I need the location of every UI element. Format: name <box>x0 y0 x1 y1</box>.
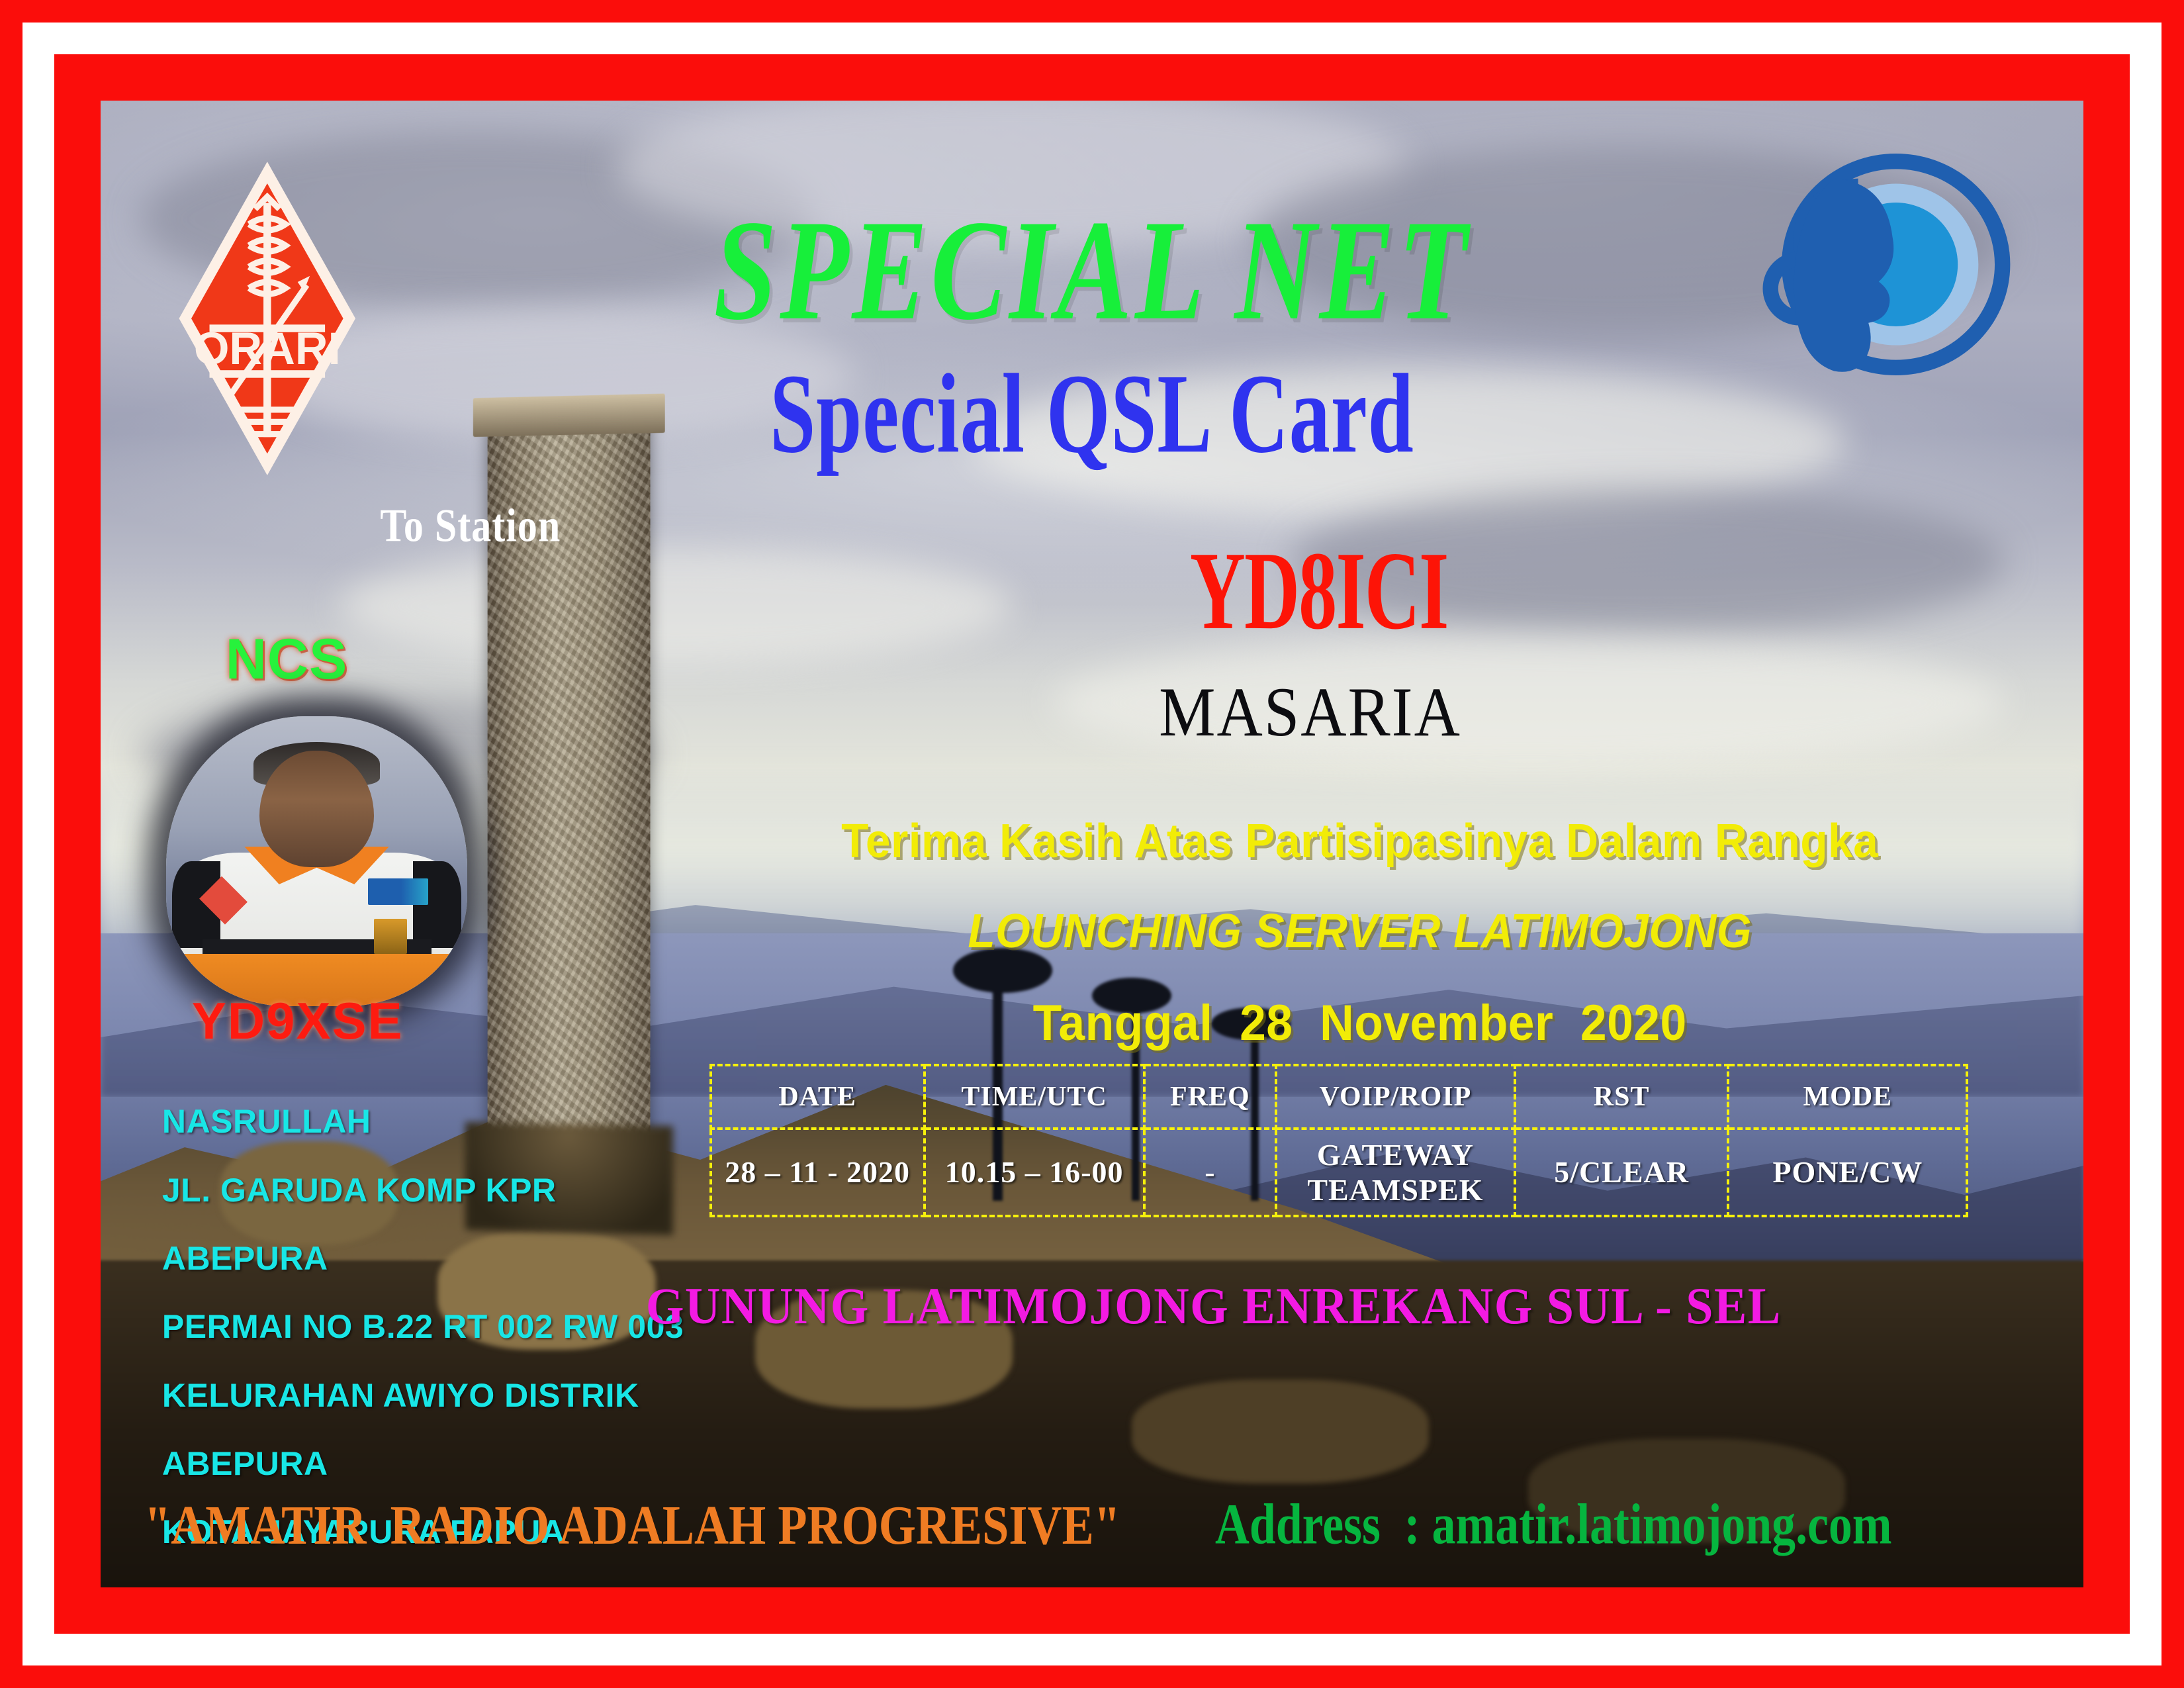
address-line: ABEPURA <box>162 1443 684 1485</box>
table-header-row: DATE TIME/UTC FREQ VOIP/ROIP RST MODE <box>711 1065 1967 1128</box>
address-line: NASRULLAH <box>162 1101 684 1143</box>
avatar-id-card <box>374 919 407 954</box>
cell-freq: - <box>1144 1129 1276 1216</box>
column-header-rst: RST <box>1515 1065 1729 1128</box>
address-line: JL. GARUDA KOMP KPR <box>162 1170 684 1211</box>
station-callsign: YD8ICI <box>447 526 2083 655</box>
table-row: 28 – 11 - 2020 10.15 – 16-00 - GATEWAY T… <box>711 1129 1967 1216</box>
station-operator-name: MASARIA <box>319 671 2083 752</box>
column-header-freq: FREQ <box>1144 1065 1276 1128</box>
page-subtitle: Special QSL Card <box>160 348 2024 479</box>
column-header-time: TIME/UTC <box>925 1065 1144 1128</box>
thanks-line-2: LOUNCHING SERVER LATIMOJONG <box>735 904 1984 959</box>
frame-inner-red: ORARI <box>54 54 2130 1634</box>
thanks-block: Terima Kasih Atas Partisipasinya Dalam R… <box>696 790 2024 1076</box>
location-line: GUNUNG LATIMOJONG ENREKANG SUL - SEL <box>646 1277 1782 1336</box>
avatar-shoulder <box>413 861 461 948</box>
address-line: KELURAHAN AWIYO DISTRIK <box>162 1375 684 1417</box>
cell-time: 10.15 – 16-00 <box>925 1129 1144 1216</box>
cell-date: 28 – 11 - 2020 <box>711 1129 925 1216</box>
rock-detail <box>1132 1380 1429 1483</box>
avatar-face <box>259 751 374 867</box>
footer-web-address: Address : amatir.latimojong.com <box>1215 1491 1892 1558</box>
operator-avatar <box>166 716 467 1006</box>
cell-voip: GATEWAY TEAMSPEK <box>1276 1129 1515 1216</box>
cell-voip-line-1: GATEWAY <box>1279 1137 1512 1172</box>
ncs-label: NCS <box>226 627 348 692</box>
qso-log-table: DATE TIME/UTC FREQ VOIP/ROIP RST MODE 28… <box>709 1064 1968 1217</box>
cell-rst: 5/CLEAR <box>1515 1129 1729 1216</box>
column-header-mode: MODE <box>1728 1065 1967 1128</box>
background-photo: ORARI <box>101 101 2083 1587</box>
qsl-card: ORARI <box>0 0 2184 1688</box>
frame-white-gap: ORARI <box>23 23 2161 1665</box>
footer-motto: "AMATIR RADIO ADALAH PROGRESIVE" <box>144 1494 1120 1558</box>
cell-voip-line-2: TEAMSPEK <box>1279 1172 1512 1207</box>
address-line: PERMAI NO B.22 RT 002 RW 003 <box>162 1306 684 1348</box>
cell-mode: PONE/CW <box>1728 1129 1967 1216</box>
column-header-date: DATE <box>711 1065 925 1128</box>
address-line: ABEPURA <box>162 1238 684 1280</box>
avatar-badge <box>368 878 428 904</box>
column-header-voip: VOIP/ROIP <box>1276 1065 1515 1128</box>
page-title: SPECIAL NET <box>140 187 2044 353</box>
ncs-callsign: YD9XSE <box>192 991 404 1051</box>
thanks-line-1: Terima Kasih Atas Partisipasinya Dalam R… <box>735 814 1984 868</box>
thanks-line-3: Tanggal 28 November 2020 <box>735 994 1984 1052</box>
